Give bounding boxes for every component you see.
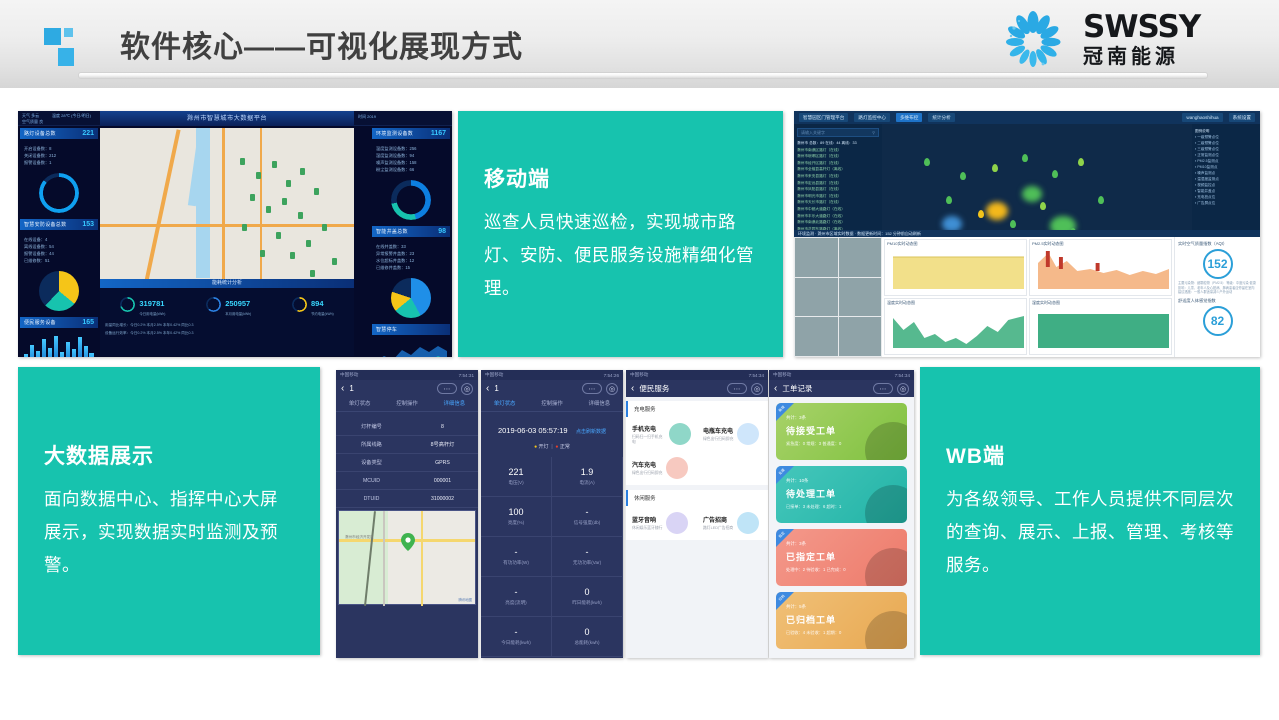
tree-item[interactable]: 滁州市来安县路灯（在线）	[797, 173, 879, 180]
chart-pm10[interactable]: PM10实时动态图	[884, 239, 1027, 296]
dashboard-panel-parking[interactable]: 智慧停车	[372, 324, 450, 357]
metric-label: 今日能耗(kwh)	[501, 640, 531, 646]
more-options-icon[interactable]: ⋯	[582, 383, 602, 394]
phone-nav-title: 工单记录	[782, 383, 812, 394]
bigdata-dashboard-screenshot[interactable]: 滁州市智慧城市大数据平台 天气 多云 温度 28℃ (今日/明日) 空气质量 良…	[18, 111, 452, 357]
gis-search-box[interactable]: 请输入关键字 ⚲	[797, 128, 879, 137]
card-web-heading: WB端	[946, 440, 1234, 470]
tree-item[interactable]: 滁州市中都大道路灯（在线）	[797, 206, 879, 213]
ebike-charging-icon	[737, 423, 759, 445]
panel-stats: 在线井盖数：33 异常报警井盖数：23 水位超标井盖数：12 已维修井盖数：15	[372, 240, 450, 274]
service-name: 手机充电	[632, 424, 665, 433]
stat-line: 报警设备数：44	[24, 250, 94, 257]
close-capsule-icon[interactable]: ◎	[751, 383, 763, 395]
metric-cell: - 有功功率(W)	[481, 537, 552, 577]
gis-user-menu[interactable]: wanghaoshihua	[1182, 113, 1222, 122]
work-order-count: 共计：10条	[786, 478, 897, 484]
metric-label: 有功功率(W)	[503, 560, 529, 566]
tree-item[interactable]: 滁州市全椒县高杆灯（离线）	[797, 166, 879, 173]
car-charging-icon	[666, 457, 688, 479]
work-order-sub: 紧急度：0 常规：3 普通度：0	[786, 441, 897, 447]
environment-bar-label: 环境监测 · 滁州市区域实时数据 · 数据更新时间：152 分钟前自动刷新	[794, 230, 1260, 237]
security-pie-chart	[39, 271, 79, 311]
service-name: 电瓶车充电	[703, 426, 733, 435]
energy-metric: 250957 本月用电量(kWh)	[206, 293, 251, 316]
dashboard-energy-panel: 能耗统计分析 319781 今日用电量(kWh) 250957 本月用电量(kW…	[100, 279, 354, 356]
section-title: 休闲服务	[626, 490, 768, 506]
card-mobile: 移动端 巡查人员快速巡检，实现城市路灯、安防、便民服务设施精细化管理。	[458, 111, 783, 357]
more-options-icon[interactable]: ⋯	[727, 383, 747, 394]
service-name: 蓝牙音响	[632, 515, 662, 524]
tab-details[interactable]: 详细信息	[431, 397, 478, 411]
service-desc: 扫码扫一扫手机充电	[632, 435, 665, 445]
map-attribution: 腾讯地图	[458, 597, 472, 602]
service-item-car-charging[interactable]: 汽车充电 绿色出行扫码即充	[626, 451, 697, 485]
back-arrow-icon[interactable]: ‹	[631, 383, 634, 394]
dashboard-city-map[interactable]	[100, 128, 354, 279]
stat-line: 噪声监测设备数：158	[376, 159, 446, 166]
aqi-title-2: 舒适度人体感觉指数	[1178, 297, 1257, 304]
chart-title: 湿度实时动态图	[1030, 299, 1171, 307]
detail-value: 000001	[407, 478, 478, 484]
detail-value: GPRS	[407, 460, 478, 466]
service-name: 广告招商	[703, 515, 733, 524]
service-item-phone-charging[interactable]: 手机充电 扫码扫一扫手机充电	[626, 417, 697, 451]
energy-value: 894	[311, 299, 324, 308]
stat-line: 离线设备数：54	[24, 243, 94, 250]
chart-title: PM2.5实时动态图	[1030, 240, 1171, 248]
phone-nav-title: 便民服务	[639, 383, 669, 394]
detail-row: DTUID 31000002	[336, 490, 478, 508]
phone-nav-bar: ‹ 工单记录 ⋯ ◎	[769, 380, 914, 397]
energy-foot-line: 用量同比增长：今日0.2% 本月2.5% 本年0.42% 同比0.3	[105, 321, 349, 329]
gis-nav-multidim[interactable]: 多维布控	[896, 113, 922, 122]
back-arrow-icon[interactable]: ‹	[341, 383, 344, 394]
panel-value: 1167	[431, 130, 446, 137]
chart-temperature[interactable]: 温度实时动态图	[884, 298, 1027, 355]
metric-label: 亮度(流明)	[505, 600, 526, 606]
detail-value: 8号高杆灯	[407, 441, 478, 448]
map-location-pin-icon	[401, 533, 415, 551]
gis-legend-panel: 图例说明 ▪ 一级预警点位▪ 二级预警点位▪ 三级预警点位▪ 正常监测点位▪ P…	[1192, 124, 1260, 242]
close-capsule-icon[interactable]: ◎	[461, 383, 473, 395]
metric-cell: 0 总能耗(kwh)	[552, 617, 623, 657]
metric-cell: 1.9 电流(A)	[552, 457, 623, 497]
tab-control[interactable]: 控制操作	[528, 397, 575, 411]
detail-key: 所属线路	[336, 441, 407, 448]
tree-item[interactable]: 滁州市凤阳县路灯（在线）	[797, 186, 879, 193]
camera-thumbnails[interactable]	[794, 237, 882, 357]
dashboard-panel-environment[interactable]: 环境监测设备数 1167 温度监测设备数：256 湿度监测设备数：94 噪声监测…	[372, 128, 450, 220]
panel-stats: 温度监测设备数：256 湿度监测设备数：94 噪声监测设备数：158 粉尘监测设…	[372, 142, 450, 176]
dashboard-chip-temp: 温度 28℃ (今日/明日)	[52, 113, 91, 118]
back-arrow-icon[interactable]: ‹	[774, 383, 777, 394]
service-item-advertising[interactable]: 广告招商 路灯LED广告招商	[697, 506, 768, 540]
parking-area-chart	[372, 338, 450, 357]
metric-cell: 0 昨日能耗(kwh)	[552, 577, 623, 617]
streetlight-donut-chart	[39, 173, 79, 213]
tree-item[interactable]: 滁州市琅琊区路灯（在线）	[797, 153, 879, 160]
clock-label: 7:54:26	[604, 373, 619, 378]
close-capsule-icon[interactable]: ◎	[606, 383, 618, 395]
search-placeholder: 请输入关键字	[801, 130, 825, 136]
energy-panel-title: 能耗统计分析	[100, 279, 354, 288]
service-section-charging: 充电服务 手机充电 扫码扫一扫手机充电 电瓶车充电 绿色出行扫码即充	[626, 401, 768, 485]
section-title: 充电服务	[626, 401, 768, 417]
status-timestamp-row: 2019-06-03 05:57:19 点击刷新数据	[481, 412, 623, 443]
logo-wordmark: SWSSY	[1083, 10, 1200, 44]
tree-item[interactable]: 滁州市天长市路灯（在线）	[797, 199, 879, 206]
tree-item[interactable]: 滁州市明光市路灯（在线）	[797, 193, 879, 200]
metric-label: 昨日能耗(kwh)	[572, 600, 602, 606]
metric-label: 无功功率(Var)	[573, 560, 601, 566]
water-droplet-flower-icon	[991, 10, 1075, 74]
phone-lamp-detail[interactable]: 中国移动 7:54:31 ‹ 1 ⋯ ◎ 单灯状态 控制操作 详细信息 灯杆编号…	[336, 370, 478, 658]
metric-value: -	[586, 547, 589, 557]
panel-value: 165	[82, 319, 94, 326]
phone-convenience-service[interactable]: 中国移动 7:54:34 ‹ 便民服务 ⋯ ◎ 充电服务 手机充电 扫码扫一扫手…	[626, 370, 768, 658]
work-order-sub: 处理中：2 待验收：1 已完成：0	[786, 567, 897, 573]
dashboard-chip-weather: 天气 多云	[22, 113, 39, 118]
metric-value: -	[515, 627, 518, 637]
status-metric-grid: 221 电压(V) 1.9 电流(A) 100 亮度(%) - 信号强度(db)…	[481, 457, 623, 657]
work-order-card-assigned[interactable]: 指定 共计：3条 已指定工单 处理中：2 待验收：1 已完成：0	[776, 529, 907, 586]
stat-line: 温度监测设备数：256	[376, 145, 446, 152]
metric-cell: - 无功功率(Var)	[552, 537, 623, 577]
gis-platform-screenshot[interactable]: 智慧园区门管理平台 路灯监控中心 多维布控 统计分析 wanghaoshihua…	[794, 111, 1260, 357]
service-item-empty	[697, 451, 768, 485]
more-options-icon[interactable]: ⋯	[873, 383, 893, 394]
dashboard-panel-convenience[interactable]: 便民服务设备 165	[20, 317, 98, 357]
detail-row: 灯杆编号 8	[336, 418, 478, 436]
energy-label: 节约电量(kWh)	[311, 311, 334, 316]
energy-footnotes: 用量同比增长：今日0.2% 本月2.5% 本年0.42% 同比0.3 设备运行效…	[100, 319, 354, 339]
panel-value: 98	[438, 228, 446, 235]
card-web-body: 为各级领导、工作人员提供不同层次的查询、展示、上报、管理、考核等服务。	[946, 483, 1234, 582]
phone-nav-title: 1	[349, 384, 353, 393]
metric-cell: - 信号强度(db)	[552, 497, 623, 537]
manhole-pie-chart	[391, 278, 431, 318]
metric-label: 电流(A)	[579, 480, 594, 486]
chart-humidity[interactable]: 湿度实时动态图	[1029, 298, 1172, 355]
metric-cell: - 今日能耗(kwh)	[481, 617, 552, 657]
map-caption: 滁州市经济开发区	[345, 535, 374, 540]
dashboard-surface: 滁州市智慧城市大数据平台 天气 多云 温度 28℃ (今日/明日) 空气质量 良…	[18, 111, 452, 357]
environment-mini-charts: PM10实时动态图 PM2.5实时动态图	[882, 237, 1174, 357]
stat-line: 水位超标井盖数：12	[376, 257, 446, 264]
dashboard-chip-time: 时间 2019	[358, 114, 376, 119]
work-order-sub: 已验收：4 未验收：1 超期：0	[786, 630, 897, 636]
gis-topbar: 智慧园区门管理平台 路灯监控中心 多维布控 统计分析 wanghaoshihua…	[794, 111, 1260, 124]
tree-root-label: 滁州市 总数：89 在线：44 离线：33	[797, 140, 879, 147]
status-alarm-state: 正常	[560, 444, 570, 450]
service-name: 汽车充电	[632, 460, 662, 469]
energy-metric: 894 节约电量(kWh)	[292, 293, 334, 316]
carrier-label: 中国移动	[340, 372, 358, 378]
work-order-card-archived[interactable]: 归档 共计：5条 已归档工单 已验收：4 未验收：1 超期：0	[776, 592, 907, 649]
stat-line: 报警设备数：1	[24, 159, 94, 166]
panel-label: 智慧停车	[376, 326, 397, 333]
detail-value: 31000002	[407, 496, 478, 502]
service-desc: 绿色出行扫码即充	[703, 437, 733, 442]
service-item-bluetooth-speaker[interactable]: 蓝牙音响 休闲娱乐蓝牙随行	[626, 506, 697, 540]
tree-item[interactable]: 滁州市定远县路灯（在线）	[797, 180, 879, 187]
energy-foot-line: 设备运行效率：今日0.2% 本月2.5% 本年0.42% 同比0.3	[105, 329, 349, 337]
energy-value: 250957	[225, 299, 250, 308]
panel-stats: 在线设备：4 离线设备数：54 报警设备数：44 已维修数：51	[20, 233, 98, 267]
metric-value: 100	[508, 507, 523, 517]
metric-label: 电压(V)	[508, 480, 523, 486]
gis-environment-panel: 环境监测 · 滁州市区域实时数据 · 数据更新时间：152 分钟前自动刷新 PM…	[794, 237, 1260, 357]
energy-value: 319781	[139, 299, 164, 308]
card-mobile-heading: 移动端	[484, 163, 757, 193]
phone-charging-icon	[669, 423, 691, 445]
energy-ring-icon	[292, 297, 307, 312]
energy-metric: 319781 今日用电量(kWh)	[120, 293, 165, 316]
status-lamp-state: 开灯	[539, 444, 549, 450]
work-order-card-pending-accept[interactable]: 新增 共计：3条 待接受工单 紧急度：0 常规：3 普通度：0	[776, 403, 907, 460]
logo-text: SWSSY 冠南能源	[1083, 10, 1200, 70]
phone-tabs[interactable]: 单灯状态 控制操作 详细信息	[336, 397, 478, 412]
dashboard-panel-manhole[interactable]: 智能井盖总数 98 在线井盖数：33 异常报警井盖数：23 水位超标井盖数：12…	[372, 226, 450, 318]
advertising-screen-icon	[737, 512, 759, 534]
tree-item[interactable]: 滁州市南谯北路路灯（在线）	[797, 219, 879, 226]
clock-label: 7:54:34	[895, 373, 910, 378]
phone-nav-bar: ‹ 1 ⋯ ◎	[481, 380, 623, 397]
work-order-count: 共计：3条	[786, 415, 897, 421]
detail-key: MCUID	[336, 478, 407, 484]
phone-status-bar: 中国移动 7:54:31	[336, 370, 478, 380]
service-section-leisure: 休闲服务 蓝牙音响 休闲娱乐蓝牙随行 广告招商 路灯LED广告招商	[626, 490, 768, 540]
carrier-label: 中国移动	[630, 372, 648, 378]
logo-company-name-cn: 冠南能源	[1083, 44, 1200, 70]
stat-line: 异常报警井盖数：23	[376, 250, 446, 257]
refresh-link[interactable]: 点击刷新数据	[576, 429, 606, 435]
metric-cell: - 亮度(流明)	[481, 577, 552, 617]
slide-root: 软件核心——可视化展现方式	[0, 0, 1279, 720]
gis-surface: 智慧园区门管理平台 路灯监控中心 多维布控 统计分析 wanghaoshihua…	[794, 111, 1260, 357]
panel-value: 221	[82, 130, 94, 137]
detail-row: MCUID 000001	[336, 472, 478, 490]
work-order-count: 共计：5条	[786, 604, 897, 610]
legend-item: ▪ 广告屏点位	[1195, 200, 1257, 206]
stat-line: 开启设备数：8	[24, 145, 94, 152]
close-capsule-icon[interactable]: ◎	[897, 383, 909, 395]
environment-donut-chart	[391, 180, 431, 220]
phone-nav-bar: ‹ 1 ⋯ ◎	[336, 380, 478, 397]
tab-lamp-status[interactable]: 单灯状态	[336, 397, 383, 411]
tab-details[interactable]: 详细信息	[576, 397, 623, 411]
service-desc: 绿色出行扫码即充	[632, 471, 662, 476]
stat-line: 已维修井盖数：15	[376, 264, 446, 271]
metric-value: 0	[584, 587, 589, 597]
panel-value: 153	[82, 221, 94, 228]
back-arrow-icon[interactable]: ‹	[486, 383, 489, 394]
dashboard-left-column: 路灯设备总数 221 开启设备数：8 关闭设备数：212 报警设备数：1 智慧安…	[20, 128, 98, 357]
phone-status-bar: 中国移动 7:54:26	[481, 370, 623, 380]
detail-key: 设备类型	[336, 459, 407, 466]
page-title: 软件核心——可视化展现方式	[120, 22, 523, 66]
metric-label: 信号强度(db)	[574, 520, 601, 526]
convenience-bar-chart	[20, 331, 98, 357]
tree-item[interactable]: 滁州市丰乐大道路灯（在线）	[797, 213, 879, 220]
detail-key: DTUID	[336, 496, 407, 502]
gis-nav-analytics[interactable]: 统计分析	[928, 113, 954, 122]
stat-line: 已维修数：51	[24, 257, 94, 264]
card-web: WB端 为各级领导、工作人员提供不同层次的查询、展示、上报、管理、考核等服务。	[920, 367, 1260, 655]
work-order-sub: 已接单：3 未处理：6 超时：1	[786, 504, 897, 510]
metric-label: 亮度(%)	[508, 520, 524, 526]
phone-location-map[interactable]: 滁州市经济开发区 腾讯地图	[338, 510, 476, 605]
metric-label: 总能耗(kwh)	[574, 640, 599, 646]
energy-ring-icon	[206, 297, 221, 312]
chart-title: PM10实时动态图	[885, 240, 1026, 248]
metric-value: 0	[584, 627, 589, 637]
tree-item[interactable]: 滁州市南谯区路灯（在线）	[797, 147, 879, 154]
detail-row: 所属线路 8号高杆灯	[336, 436, 478, 454]
chart-title: 温度实时动态图	[885, 299, 1026, 307]
aqi-desc-1: 主要污染物：细颗粒物（PM2.5） 等级：中度污染 健康影响：儿童、老年人及心脏…	[1178, 281, 1257, 295]
stat-line: 粉尘监测设备数：66	[376, 166, 446, 173]
carrier-label: 中国移动	[773, 372, 791, 378]
aqi-value-1: 152	[1203, 249, 1233, 279]
panel-label: 智能井盖总数	[376, 228, 408, 235]
panel-label: 智慧安防设备总数	[24, 221, 66, 228]
service-item-ebike-charging[interactable]: 电瓶车充电 绿色出行扫码即充	[697, 417, 768, 451]
phone-status-bar: 中国移动 7:54:34	[769, 370, 914, 380]
panel-label: 便民服务设备	[24, 319, 56, 326]
dashboard-panel-security[interactable]: 智慧安防设备总数 153 在线设备：4 离线设备数：54 报警设备数：44 已维…	[20, 219, 98, 311]
work-order-count: 共计：3条	[786, 541, 897, 547]
metric-value: 1.9	[581, 467, 594, 477]
more-options-icon[interactable]: ⋯	[437, 383, 457, 394]
legend-list: ▪ 一级预警点位▪ 二级预警点位▪ 三级预警点位▪ 正常监测点位▪ PM2.5监…	[1195, 134, 1257, 206]
chart-pm25[interactable]: PM2.5实时动态图	[1029, 239, 1172, 296]
clock-label: 7:54:31	[459, 373, 474, 378]
gis-settings-button[interactable]: 系统设置	[1229, 113, 1255, 122]
aqi-value-2: 82	[1203, 306, 1233, 336]
work-order-card-pending-process[interactable]: 处理 共计：10条 待处理工单 已接单：3 未处理：6 超时：1	[776, 466, 907, 523]
panel-label: 环境监测设备数	[376, 130, 413, 137]
service-desc: 休闲娱乐蓝牙随行	[632, 526, 662, 531]
header-decoration-squares	[44, 28, 86, 68]
card-bigdata-body: 面向数据中心、指挥中心大屏展示，实现数据实时监测及预警。	[44, 483, 294, 582]
slide-header: 软件核心——可视化展现方式	[0, 0, 1279, 88]
aqi-summary-card: 实时空气质量指数（AQI） 152 主要污染物：细颗粒物（PM2.5） 等级：中…	[1174, 237, 1260, 357]
phone-nav-bar: ‹ 便民服务 ⋯ ◎	[626, 380, 768, 397]
metric-cell: 221 电压(V)	[481, 457, 552, 497]
energy-label: 本月用电量(kWh)	[225, 311, 251, 316]
detail-key: 灯杆编号	[336, 423, 407, 430]
gis-nav-control-center[interactable]: 路灯监控中心	[854, 113, 890, 122]
card-mobile-body: 巡查人员快速巡检，实现城市路灯、安防、便民服务设施精细化管理。	[484, 206, 757, 305]
carrier-label: 中国移动	[485, 372, 503, 378]
stat-line: 在线井盖数：33	[376, 243, 446, 250]
energy-ring-icon	[120, 297, 135, 312]
status-timestamp: 2019-06-03 05:57:19	[498, 426, 568, 435]
phone-status-bar: 中国移动 7:54:34	[626, 370, 768, 380]
panel-label: 路灯设备总数	[24, 130, 56, 137]
stat-line: 湿度监测设备数：94	[376, 152, 446, 159]
phone-work-orders[interactable]: 中国移动 7:54:34 ‹ 工单记录 ⋯ ◎ 新增 共计：3条 待接受工单 紧…	[769, 370, 914, 658]
metric-value: -	[515, 587, 518, 597]
card-bigdata: 大数据展示 面向数据中心、指挥中心大屏展示，实现数据实时监测及预警。	[18, 367, 320, 655]
aqi-title-1: 实时空气质量指数（AQI）	[1178, 240, 1257, 247]
company-logo: SWSSY 冠南能源	[991, 8, 1241, 76]
phone-nav-title: 1	[494, 384, 498, 393]
tab-control[interactable]: 控制操作	[383, 397, 430, 411]
status-indicators: ● 开灯 | ● 正常	[481, 443, 623, 457]
dashboard-title: 滁州市智慧城市大数据平台	[100, 111, 354, 126]
metric-value: -	[586, 507, 589, 517]
card-bigdata-heading: 大数据展示	[44, 440, 294, 470]
search-icon[interactable]: ⚲	[872, 130, 875, 135]
panel-stats: 开启设备数：8 关闭设备数：212 报警设备数：1	[20, 142, 98, 169]
detail-row: 设备类型 GPRS	[336, 454, 478, 472]
dashboard-panel-streetlight[interactable]: 路灯设备总数 221 开启设备数：8 关闭设备数：212 报警设备数：1	[20, 128, 98, 213]
phone-lamp-status[interactable]: 中国移动 7:54:26 ‹ 1 ⋯ ◎ 单灯状态 控制操作 详细信息 2019…	[481, 370, 623, 658]
metric-cell: 100 亮度(%)	[481, 497, 552, 537]
metric-value: 221	[508, 467, 523, 477]
bluetooth-speaker-icon	[666, 512, 688, 534]
stat-line: 在线设备：4	[24, 236, 94, 243]
tab-lamp-status[interactable]: 单灯状态	[481, 397, 528, 411]
metric-value: -	[515, 547, 518, 557]
clock-label: 7:54:34	[749, 373, 764, 378]
energy-label: 今日用电量(kWh)	[139, 311, 165, 316]
service-desc: 路灯LED广告招商	[703, 526, 733, 531]
dashboard-chip-air: 空气质量 良	[22, 119, 43, 124]
phone-tabs[interactable]: 单灯状态 控制操作 详细信息	[481, 397, 623, 412]
stat-line: 关闭设备数：212	[24, 152, 94, 159]
dashboard-right-column: 环境监测设备数 1167 温度监测设备数：256 湿度监测设备数：94 噪声监测…	[372, 128, 450, 357]
tree-item[interactable]: 滁州市经开区路灯（在线）	[797, 160, 879, 167]
detail-value: 8	[407, 424, 478, 430]
gis-nav-platform[interactable]: 智慧园区门管理平台	[799, 113, 848, 122]
